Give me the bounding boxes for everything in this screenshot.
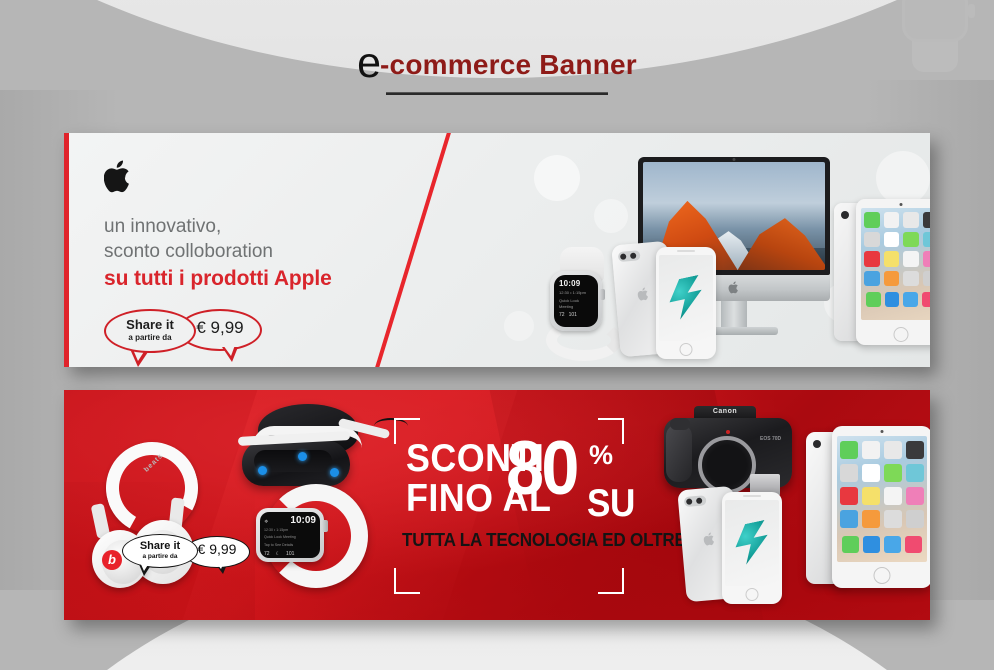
ipad-app-icon bbox=[923, 232, 931, 248]
ipad-app-icon bbox=[864, 232, 880, 248]
canon-camera-image: Canon EOS 70D bbox=[664, 406, 792, 490]
camera-icon bbox=[618, 250, 641, 262]
ipad-app-icon bbox=[923, 251, 931, 267]
bubble-tail-inner bbox=[139, 560, 151, 571]
banner-left-red-bar bbox=[64, 133, 69, 367]
price-label: € 9,99 bbox=[178, 318, 262, 338]
ipad-app-icon bbox=[884, 487, 902, 505]
apple-banner-headline: su tutti i prodotti Apple bbox=[104, 267, 454, 291]
ipad-app-icon bbox=[862, 464, 880, 482]
bubble-tail-inner bbox=[214, 560, 225, 569]
share-price-bubbles[interactable]: Share it a partire da € 9,99 bbox=[104, 309, 304, 361]
watch-line-2: Quick Look Meeting bbox=[559, 298, 593, 310]
ipad-app-icon bbox=[840, 464, 858, 482]
camera-icon bbox=[813, 440, 821, 448]
watch-temp: 72 bbox=[559, 312, 565, 318]
apple-banner-copy: un innovativo, sconto colloboration su t… bbox=[104, 159, 454, 361]
iphone-image bbox=[682, 488, 794, 606]
watch-line-2: Quick Look Meeting bbox=[264, 535, 316, 540]
apple-promo-banner[interactable]: un innovativo, sconto colloboration su t… bbox=[64, 133, 930, 367]
apple-logo-icon bbox=[637, 287, 650, 302]
ipad-app-icon bbox=[903, 251, 919, 267]
tech-discount-banner[interactable]: beats b ❖ 10:09 12:30 • 1:15pm Quick Loo… bbox=[64, 390, 930, 620]
camera-icon bbox=[684, 495, 707, 507]
ipad-app-icon bbox=[862, 510, 880, 528]
ipad-app-icon bbox=[884, 212, 900, 228]
ipad-app-grid-3 bbox=[864, 251, 930, 267]
ipad-app-icon bbox=[864, 212, 880, 228]
beats-wordmark: beats bbox=[143, 452, 165, 473]
watch-time: 10:09 bbox=[290, 515, 316, 526]
ipad-app-grid-4 bbox=[864, 271, 930, 287]
bokeh-dot bbox=[504, 311, 534, 341]
title-underline bbox=[386, 92, 608, 95]
apple-banner-line-2: sconto colloboration bbox=[104, 239, 454, 264]
ipad-app-icon bbox=[906, 487, 924, 505]
canon-wordmark: Canon bbox=[694, 408, 756, 415]
watch-line-1: 12:30 • 1:15pm bbox=[264, 528, 316, 533]
ipad-app-grid-2 bbox=[840, 464, 924, 482]
apple-banner-line-1: un innovativo, bbox=[104, 214, 454, 239]
ipad-app-icon bbox=[864, 271, 880, 287]
ipad-app-grid-4 bbox=[840, 510, 924, 528]
ipad-app-icon bbox=[923, 271, 931, 287]
ipad-dock-icon bbox=[905, 536, 922, 553]
ipad-app-grid-2 bbox=[864, 232, 930, 248]
ipad-dock-icon bbox=[842, 536, 859, 553]
ipad-image bbox=[834, 199, 930, 345]
ipad-app-icon bbox=[906, 510, 924, 528]
ipad-app-icon bbox=[862, 441, 880, 459]
ipad-app-icon bbox=[906, 464, 924, 482]
discount-subline: TUTTA LA TECNOLOGIA ED OLTRE bbox=[402, 530, 686, 551]
discount-percent-symbol: % bbox=[589, 440, 613, 471]
apple-logo-icon bbox=[104, 159, 133, 194]
apple-device-lineup: 10:09 12:30 • 1:15pm Quick Look Meeting … bbox=[544, 143, 930, 367]
ipad-app-icon bbox=[903, 212, 919, 228]
iphone-image bbox=[616, 243, 726, 361]
bubble-tail-inner bbox=[223, 345, 235, 356]
ipad-app-icon bbox=[862, 487, 880, 505]
watch-time: 10:09 bbox=[559, 279, 593, 288]
discount-copy-block: SCONTI FINO AL 80 % SU TUTTA LA TECNOLOG… bbox=[394, 418, 624, 594]
ipad-app-grid-3 bbox=[840, 487, 924, 505]
ipad-app-icon bbox=[884, 441, 902, 459]
apple-logo-icon bbox=[729, 281, 740, 294]
ipad-app-icon bbox=[923, 212, 931, 228]
watch-crown-icon bbox=[600, 289, 605, 300]
watch-line-3: Tap to See Details bbox=[264, 543, 316, 548]
ipad-app-icon bbox=[864, 251, 880, 267]
ipad-app-icon bbox=[884, 271, 900, 287]
ipad-app-icon bbox=[884, 510, 902, 528]
camera-icon bbox=[841, 211, 849, 219]
ipad-dock-1 bbox=[864, 292, 930, 307]
page-title-text: e-commerce Banner bbox=[357, 42, 637, 85]
title-letter-e: e bbox=[357, 39, 380, 87]
watch-line-1: 12:30 • 1:15pm bbox=[559, 290, 593, 296]
ipad-image bbox=[806, 426, 930, 590]
apple-watch-image: 10:09 12:30 • 1:15pm Quick Look Meeting … bbox=[544, 261, 624, 357]
ipad-app-icon bbox=[884, 251, 900, 267]
ipad-dock-icon bbox=[922, 292, 931, 307]
ipad-app-icon bbox=[906, 441, 924, 459]
ipad-app-icon bbox=[840, 510, 858, 528]
ipad-app-icon bbox=[840, 487, 858, 505]
ipad-dock-icon bbox=[863, 536, 880, 553]
ipad-app-grid-1 bbox=[864, 212, 930, 228]
ipad-app-icon bbox=[903, 271, 919, 287]
bracket-corner-icon bbox=[394, 568, 420, 594]
ipad-dock-2 bbox=[840, 536, 924, 553]
ipad-dock-icon bbox=[903, 292, 918, 307]
apple-logo-icon bbox=[703, 532, 716, 547]
ipad-app-icon bbox=[884, 464, 902, 482]
bracket-corner-icon bbox=[598, 568, 624, 594]
discount-su-label: SU bbox=[587, 482, 635, 526]
ipad-app-icon bbox=[884, 232, 900, 248]
ipad-app-icon bbox=[840, 441, 858, 459]
price-label: € 9,99 bbox=[184, 541, 250, 557]
watch-temp: 72 bbox=[264, 551, 270, 557]
ipad-dock-icon bbox=[885, 292, 900, 307]
beats-logo-icon: b bbox=[102, 550, 122, 570]
discount-percent-number: 80 bbox=[506, 438, 577, 500]
watch-extra: 101 bbox=[286, 551, 294, 557]
ipad-dock-icon bbox=[866, 292, 881, 307]
ipad-dock-icon bbox=[884, 536, 901, 553]
canon-model-label: EOS 70D bbox=[760, 436, 781, 442]
page-title: e-commerce Banner bbox=[0, 42, 994, 95]
watch-crown-icon bbox=[322, 520, 328, 532]
watch-extra: 101 bbox=[569, 312, 577, 318]
ipad-app-grid-1 bbox=[840, 441, 924, 459]
title-remainder: -commerce Banner bbox=[380, 49, 637, 80]
ipad-app-icon bbox=[903, 232, 919, 248]
